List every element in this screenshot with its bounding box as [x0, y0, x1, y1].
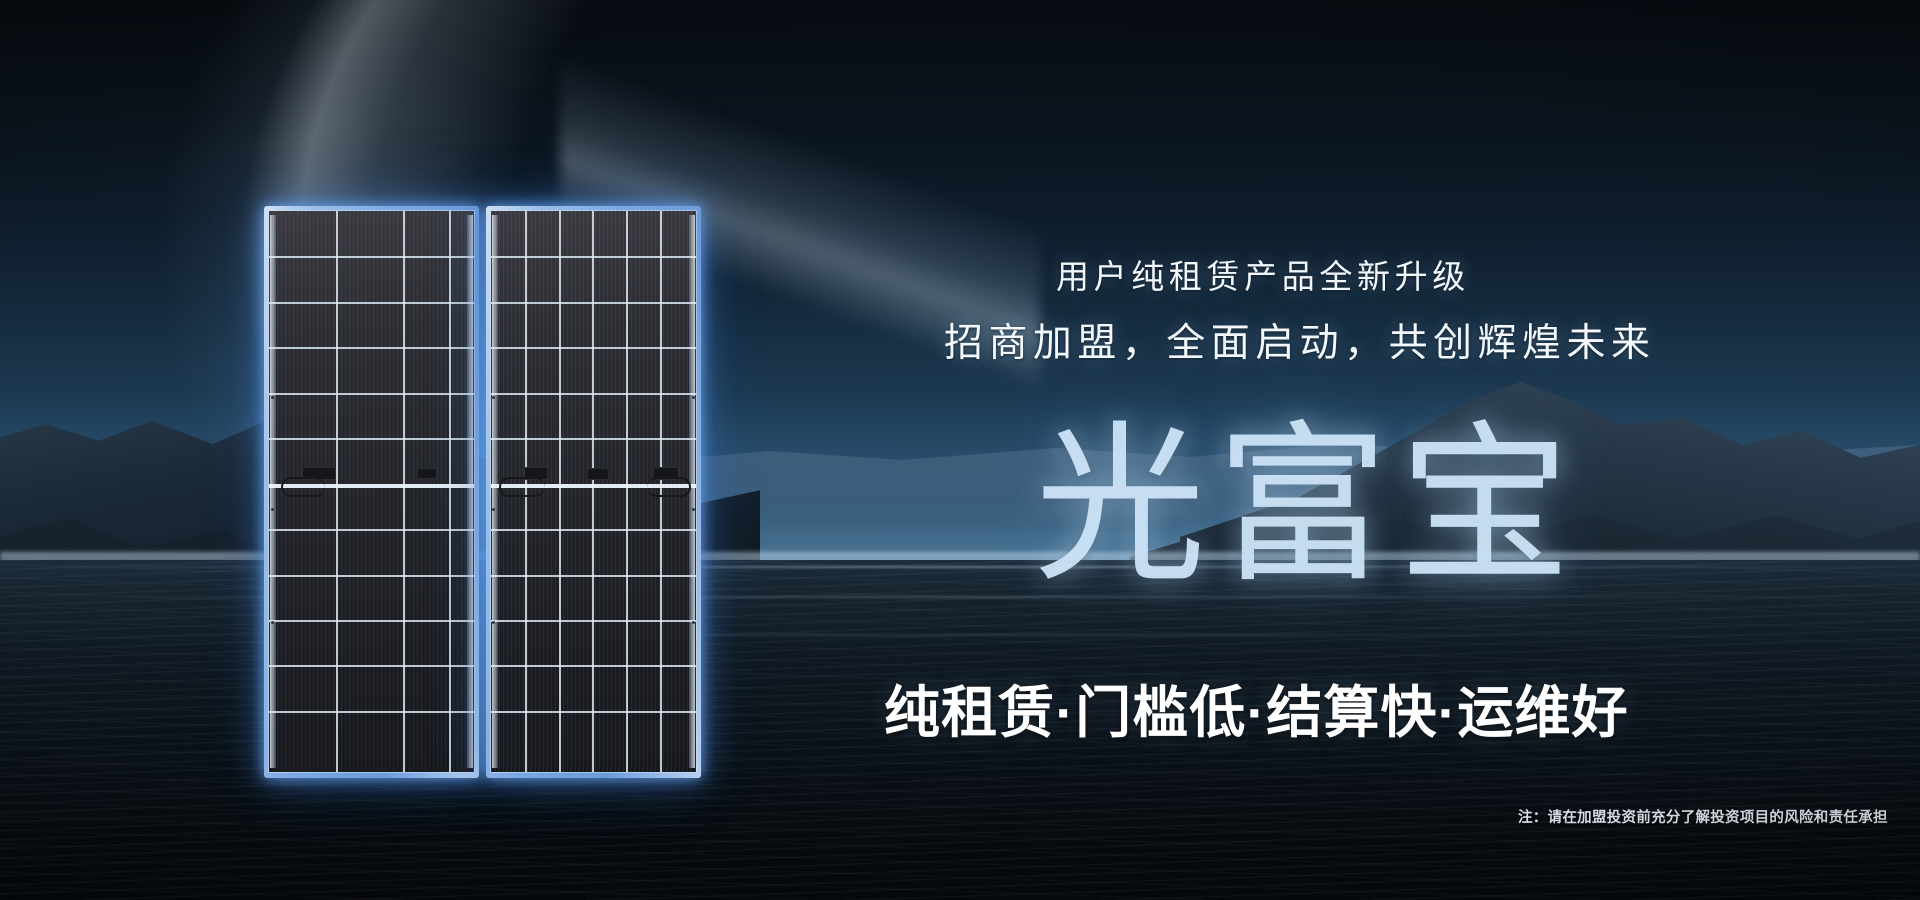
solar-panel-right	[486, 206, 701, 778]
banner-canvas: 用户纯租赁产品全新升级 招商加盟，全面启动，共创辉煌未来 光富宝 纯租赁·门槛低…	[0, 0, 1920, 900]
solar-panel-product	[264, 206, 704, 778]
junction-box	[417, 468, 437, 479]
panel-edge-icon	[467, 215, 473, 768]
junction-box	[587, 468, 609, 480]
solar-panel-left	[264, 206, 479, 778]
brand-name: 光富宝	[1034, 420, 1581, 592]
panel-cable	[281, 477, 325, 497]
panel-edge-icon	[492, 215, 498, 768]
footnote-disclaimer: 注：请在加盟投资前充分了解投资项目的风险和责任承担	[1518, 806, 1888, 827]
headline-line-1: 用户纯租赁产品全新升级	[1056, 250, 1470, 298]
panel-edge-icon	[270, 215, 276, 768]
panel-cable	[499, 477, 545, 497]
solar-cell-grid	[491, 211, 696, 772]
panel-cable	[647, 477, 691, 497]
solar-cell-grid	[269, 211, 474, 772]
tagline: 纯租赁·门槛低·结算快·运维好	[884, 668, 1629, 749]
headline-line-2: 招商加盟，全面启动，共创辉煌未来	[944, 312, 1655, 368]
